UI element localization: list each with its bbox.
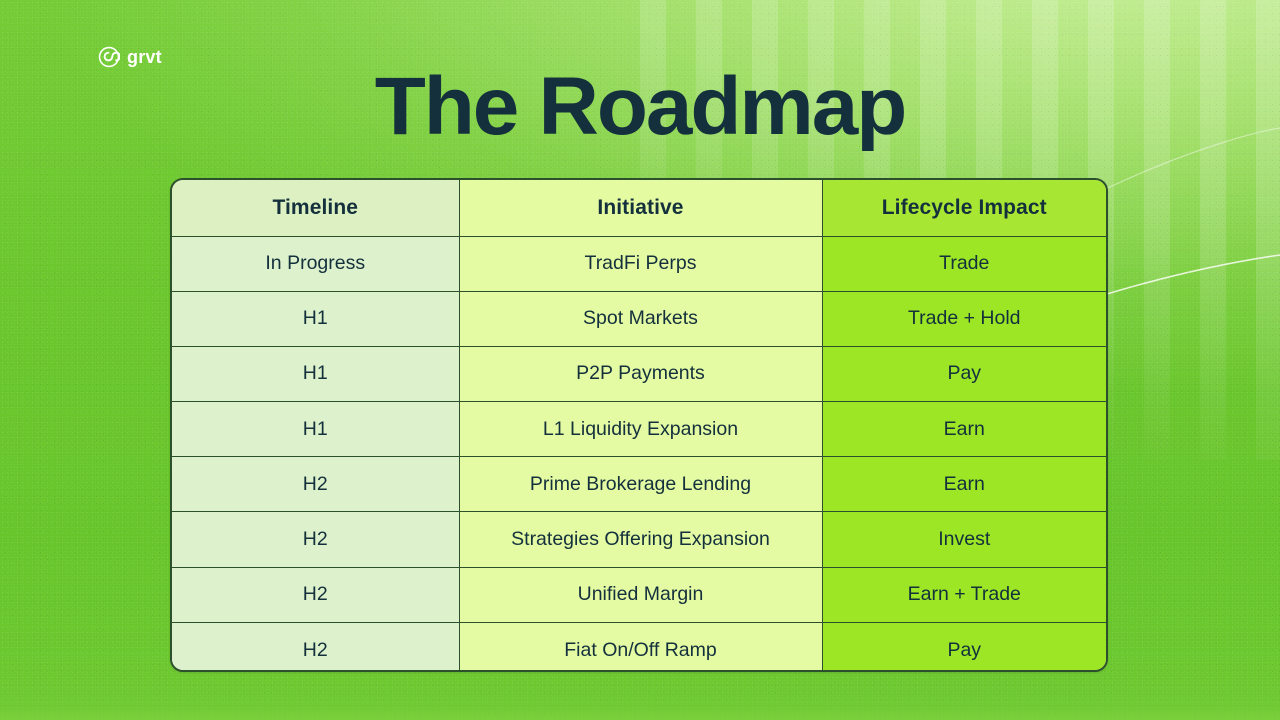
cell-timeline: H1 (172, 402, 459, 457)
table-row: H2 Unified Margin Earn + Trade (172, 567, 1106, 622)
cell-impact: Earn (822, 402, 1106, 457)
background-bottom-band (0, 694, 1280, 720)
cell-timeline: H1 (172, 346, 459, 401)
column-header-timeline: Timeline (172, 180, 459, 236)
cell-initiative: Unified Margin (459, 567, 822, 622)
cell-timeline: H2 (172, 512, 459, 567)
cell-initiative: Fiat On/Off Ramp (459, 622, 822, 672)
cell-timeline: H1 (172, 291, 459, 346)
table-row: H2 Fiat On/Off Ramp Pay (172, 622, 1106, 672)
roadmap-table-container: Timeline Initiative Lifecycle Impact In … (170, 178, 1108, 672)
cell-timeline: H2 (172, 622, 459, 672)
cell-impact: Pay (822, 622, 1106, 672)
table-body: In Progress TradFi Perps Trade H1 Spot M… (172, 236, 1106, 672)
cell-impact: Earn + Trade (822, 567, 1106, 622)
page-title: The Roadmap (0, 66, 1280, 148)
cell-initiative: Spot Markets (459, 291, 822, 346)
cell-timeline: H2 (172, 457, 459, 512)
slide-canvas: grvt The Roadmap Timeline Initiative Lif… (0, 0, 1280, 720)
grvt-loop-icon (98, 46, 120, 68)
table-row: H2 Strategies Offering Expansion Invest (172, 512, 1106, 567)
brand-logo-text: grvt (127, 48, 162, 66)
table-header-row: Timeline Initiative Lifecycle Impact (172, 180, 1106, 236)
table-row: H1 L1 Liquidity Expansion Earn (172, 402, 1106, 457)
column-header-initiative: Initiative (459, 180, 822, 236)
table-row: H1 P2P Payments Pay (172, 346, 1106, 401)
roadmap-table: Timeline Initiative Lifecycle Impact In … (172, 180, 1106, 672)
table-row: H1 Spot Markets Trade + Hold (172, 291, 1106, 346)
cell-initiative: Prime Brokerage Lending (459, 457, 822, 512)
cell-impact: Invest (822, 512, 1106, 567)
table-header: Timeline Initiative Lifecycle Impact (172, 180, 1106, 236)
cell-timeline: In Progress (172, 236, 459, 291)
cell-initiative: Strategies Offering Expansion (459, 512, 822, 567)
cell-timeline: H2 (172, 567, 459, 622)
table-row: In Progress TradFi Perps Trade (172, 236, 1106, 291)
cell-impact: Earn (822, 457, 1106, 512)
table-row: H2 Prime Brokerage Lending Earn (172, 457, 1106, 512)
brand-logo: grvt (98, 46, 162, 68)
cell-initiative: L1 Liquidity Expansion (459, 402, 822, 457)
cell-impact: Trade + Hold (822, 291, 1106, 346)
cell-initiative: P2P Payments (459, 346, 822, 401)
cell-impact: Trade (822, 236, 1106, 291)
column-header-lifecycle-impact: Lifecycle Impact (822, 180, 1106, 236)
cell-initiative: TradFi Perps (459, 236, 822, 291)
cell-impact: Pay (822, 346, 1106, 401)
